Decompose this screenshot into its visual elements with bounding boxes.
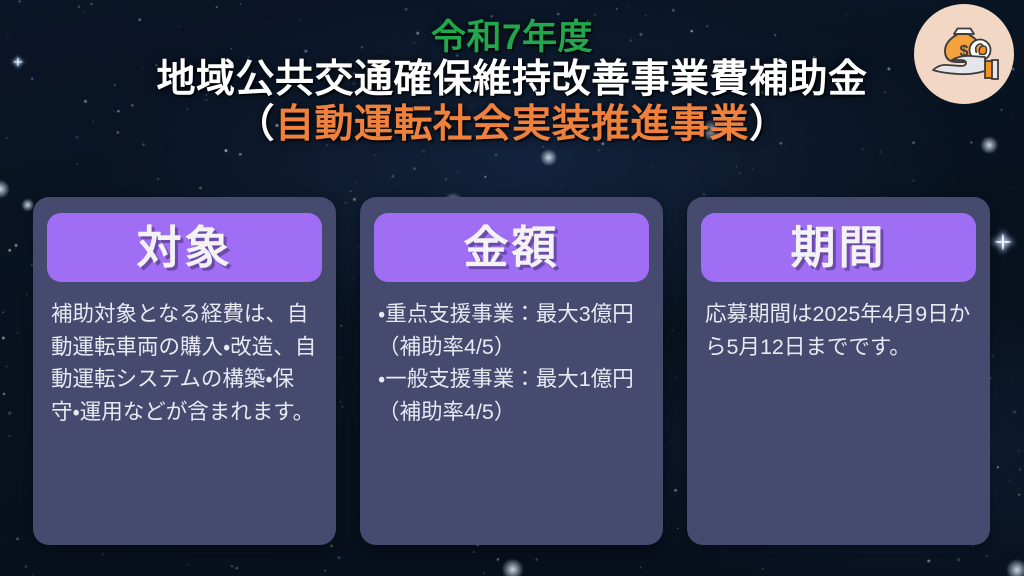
title-main-line: 地域公共交通確保維持改善事業費補助金	[0, 58, 1024, 102]
card-badge-period: 期間	[701, 213, 976, 282]
card-badge-label: 金額	[463, 225, 559, 270]
info-card-target: 対象 補助対象となる経費は、自動運転車両の購入・改造、自動運転システムの構築・保…	[33, 197, 336, 545]
card-body-target: 補助対象となる経費は、自動運転車両の購入・改造、自動運転システムの構築・保守・運…	[47, 290, 322, 429]
title-era-line: 令和7年度	[0, 18, 1024, 57]
card-body-period: 応募期間は2025年4月9日から5月12日までです。	[701, 290, 976, 363]
slide-root: $ 令和7年度 地域公共交通確保維持改善事業費補助金 （自動運転社会実装推進事業…	[0, 0, 1024, 576]
card-body-amount: ・重点支援事業：最大3億円（補助率4/5） ・一般支援事業：最大1億円（補助率4…	[374, 290, 649, 429]
info-card-amount: 金額 ・重点支援事業：最大3億円（補助率4/5） ・一般支援事業：最大1億円（補…	[360, 197, 663, 545]
title-sub-paren-close: ）	[749, 103, 789, 146]
title-sub-paren-open: （	[235, 103, 275, 146]
card-body-text: 応募期間は2025年4月9日から5月12日までです。	[705, 298, 974, 363]
card-body-line: ・重点支援事業：最大3億円（補助率4/5）	[378, 298, 647, 363]
card-body-text: 補助対象となる経費は、自動運転車両の購入・改造、自動運転システムの構築・保守・運…	[51, 298, 320, 429]
card-badge-label: 対象	[136, 225, 232, 270]
info-card-group: 対象 補助対象となる経費は、自動運転車両の購入・改造、自動運転システムの構築・保…	[33, 197, 990, 545]
title-sub-line: （自動運転社会実装推進事業）	[0, 103, 1024, 147]
card-badge-amount: 金額	[374, 213, 649, 282]
hand-holding-money-bag-icon: $	[914, 4, 1014, 104]
card-badge-target: 対象	[47, 213, 322, 282]
info-card-period: 期間 応募期間は2025年4月9日から5月12日までです。	[687, 197, 990, 545]
card-body-line: ・一般支援事業：最大1億円（補助率4/5）	[378, 363, 647, 428]
page-title: 令和7年度 地域公共交通確保維持改善事業費補助金 （自動運転社会実装推進事業）	[0, 18, 1024, 147]
title-sub-accent: 自動運転社会実装推進事業	[275, 103, 749, 146]
card-badge-label: 期間	[790, 225, 886, 270]
